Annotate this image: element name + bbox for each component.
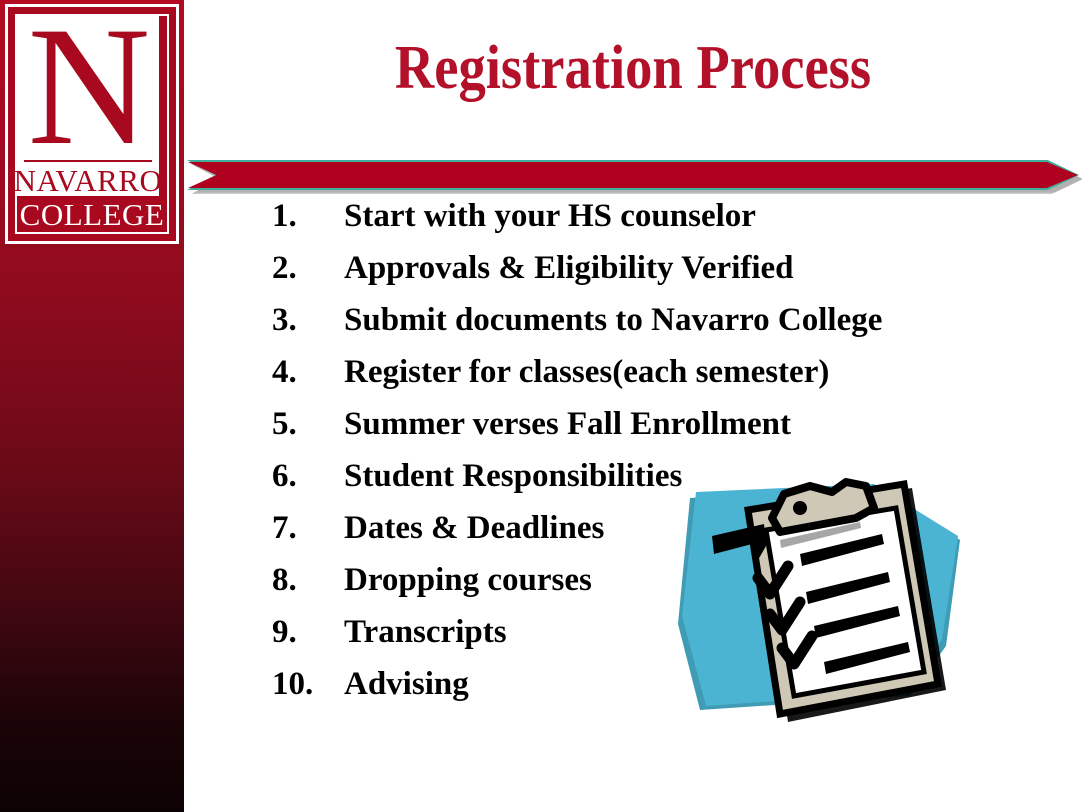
list-item-number: 4. — [272, 354, 344, 391]
list-item: 5. Summer verses Fall Enrollment — [272, 406, 1052, 458]
list-item: 2. Approvals & Eligibility Verified — [272, 250, 1052, 302]
list-item-label: Approvals & Eligibility Verified — [344, 250, 1052, 287]
list-item-number: 2. — [272, 250, 344, 287]
list-item-label: Register for classes(each semester) — [344, 354, 1052, 391]
logo-wordmark-navarro: NAVARRO — [14, 165, 163, 196]
list-item: 4. Register for classes(each semester) — [272, 354, 1052, 406]
arrow-banner-fill — [188, 162, 1078, 188]
slide-canvas: N NAVARRO COLLEGE Registration Process 1… — [0, 0, 1082, 812]
list-item-number: 6. — [272, 458, 344, 495]
clipart-clip-rivet — [793, 501, 807, 515]
page-title: Registration Process — [238, 36, 1028, 101]
list-item-number: 8. — [272, 562, 344, 599]
list-item-label: Submit documents to Navarro College — [344, 302, 1052, 339]
list-item-number: 1. — [272, 198, 344, 235]
clipboard-checklist-icon — [660, 474, 970, 724]
list-item: 1. Start with your HS counselor — [272, 198, 1052, 250]
list-item: 3. Submit documents to Navarro College — [272, 302, 1052, 354]
logo-divider-rule — [24, 160, 152, 162]
logo-monogram-n: N — [28, 8, 149, 164]
logo-wordmark-college: COLLEGE — [8, 199, 176, 230]
list-item-number: 10. — [272, 666, 344, 703]
navarro-college-logo: N NAVARRO COLLEGE — [5, 4, 179, 244]
list-item-number: 5. — [272, 406, 344, 443]
list-item-number: 3. — [272, 302, 344, 339]
list-item-number: 9. — [272, 614, 344, 651]
list-item-number: 7. — [272, 510, 344, 547]
list-item-label: Start with your HS counselor — [344, 198, 1052, 235]
arrow-banner — [187, 160, 1079, 190]
list-item-label: Summer verses Fall Enrollment — [344, 406, 1052, 443]
logo-white-panel: N NAVARRO — [17, 16, 159, 196]
